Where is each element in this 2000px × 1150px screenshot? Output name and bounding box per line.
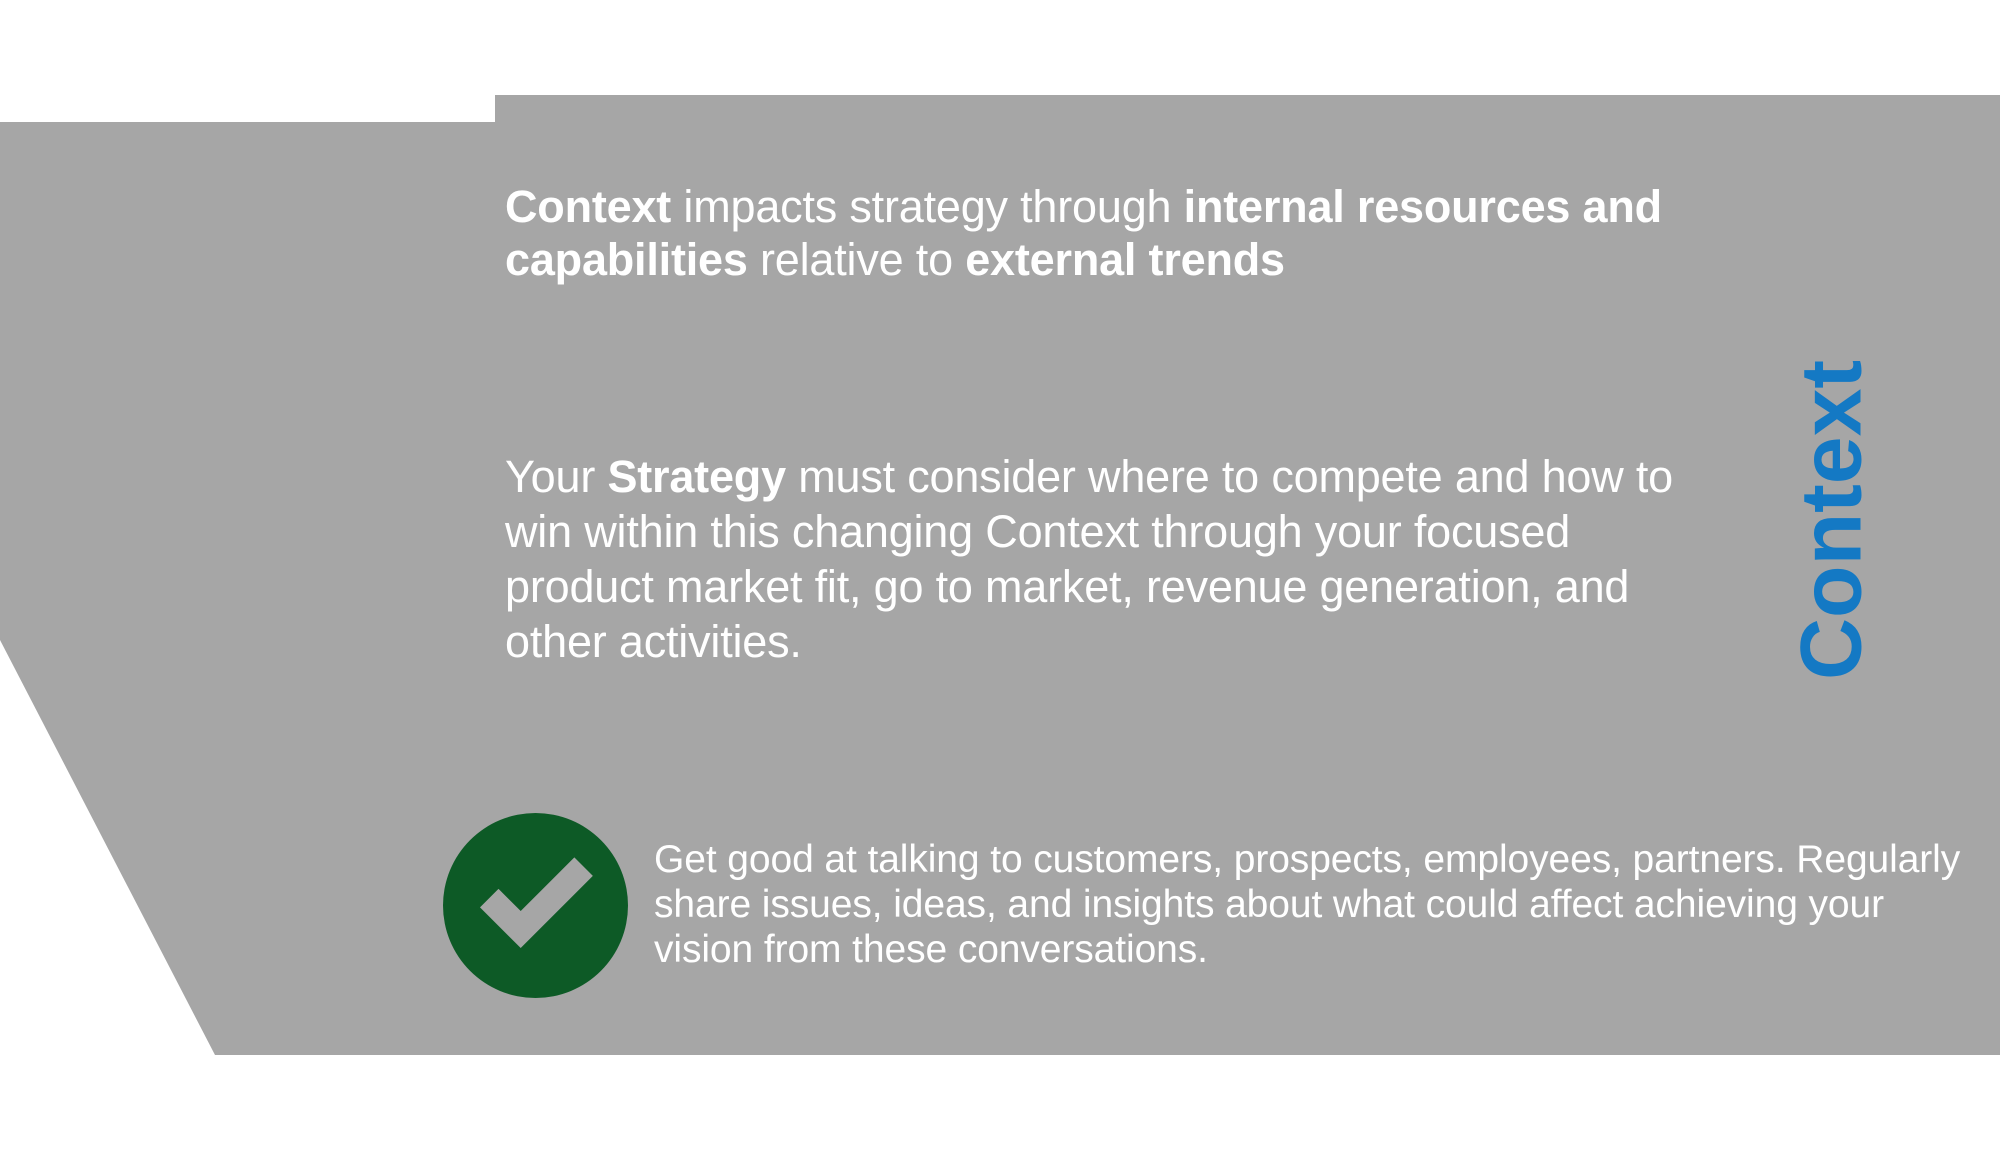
vertical-context-label-text: Context	[1783, 360, 1882, 680]
body-segment-1: Strategy	[607, 451, 785, 502]
heading-segment-3: relative to	[748, 234, 966, 285]
callout-row: Get good at talking to customers, prospe…	[443, 815, 1963, 998]
banner-top-notch	[390, 95, 495, 122]
heading-segment-0: Context	[505, 181, 671, 232]
body-segment-0: Your	[505, 451, 607, 502]
heading-segment-4: external trends	[965, 234, 1285, 285]
slide-canvas: Context impacts strategy through interna…	[0, 0, 2000, 1150]
check-circle-icon	[443, 813, 628, 998]
heading-segment-1: impacts strategy through	[671, 181, 1184, 232]
body-paragraph: Your Strategy must consider where to com…	[505, 450, 1705, 670]
vertical-context-label: Context	[1742, 290, 1922, 750]
heading-text: Context impacts strategy through interna…	[505, 180, 1735, 286]
callout-text: Get good at talking to customers, prospe…	[654, 837, 1963, 973]
